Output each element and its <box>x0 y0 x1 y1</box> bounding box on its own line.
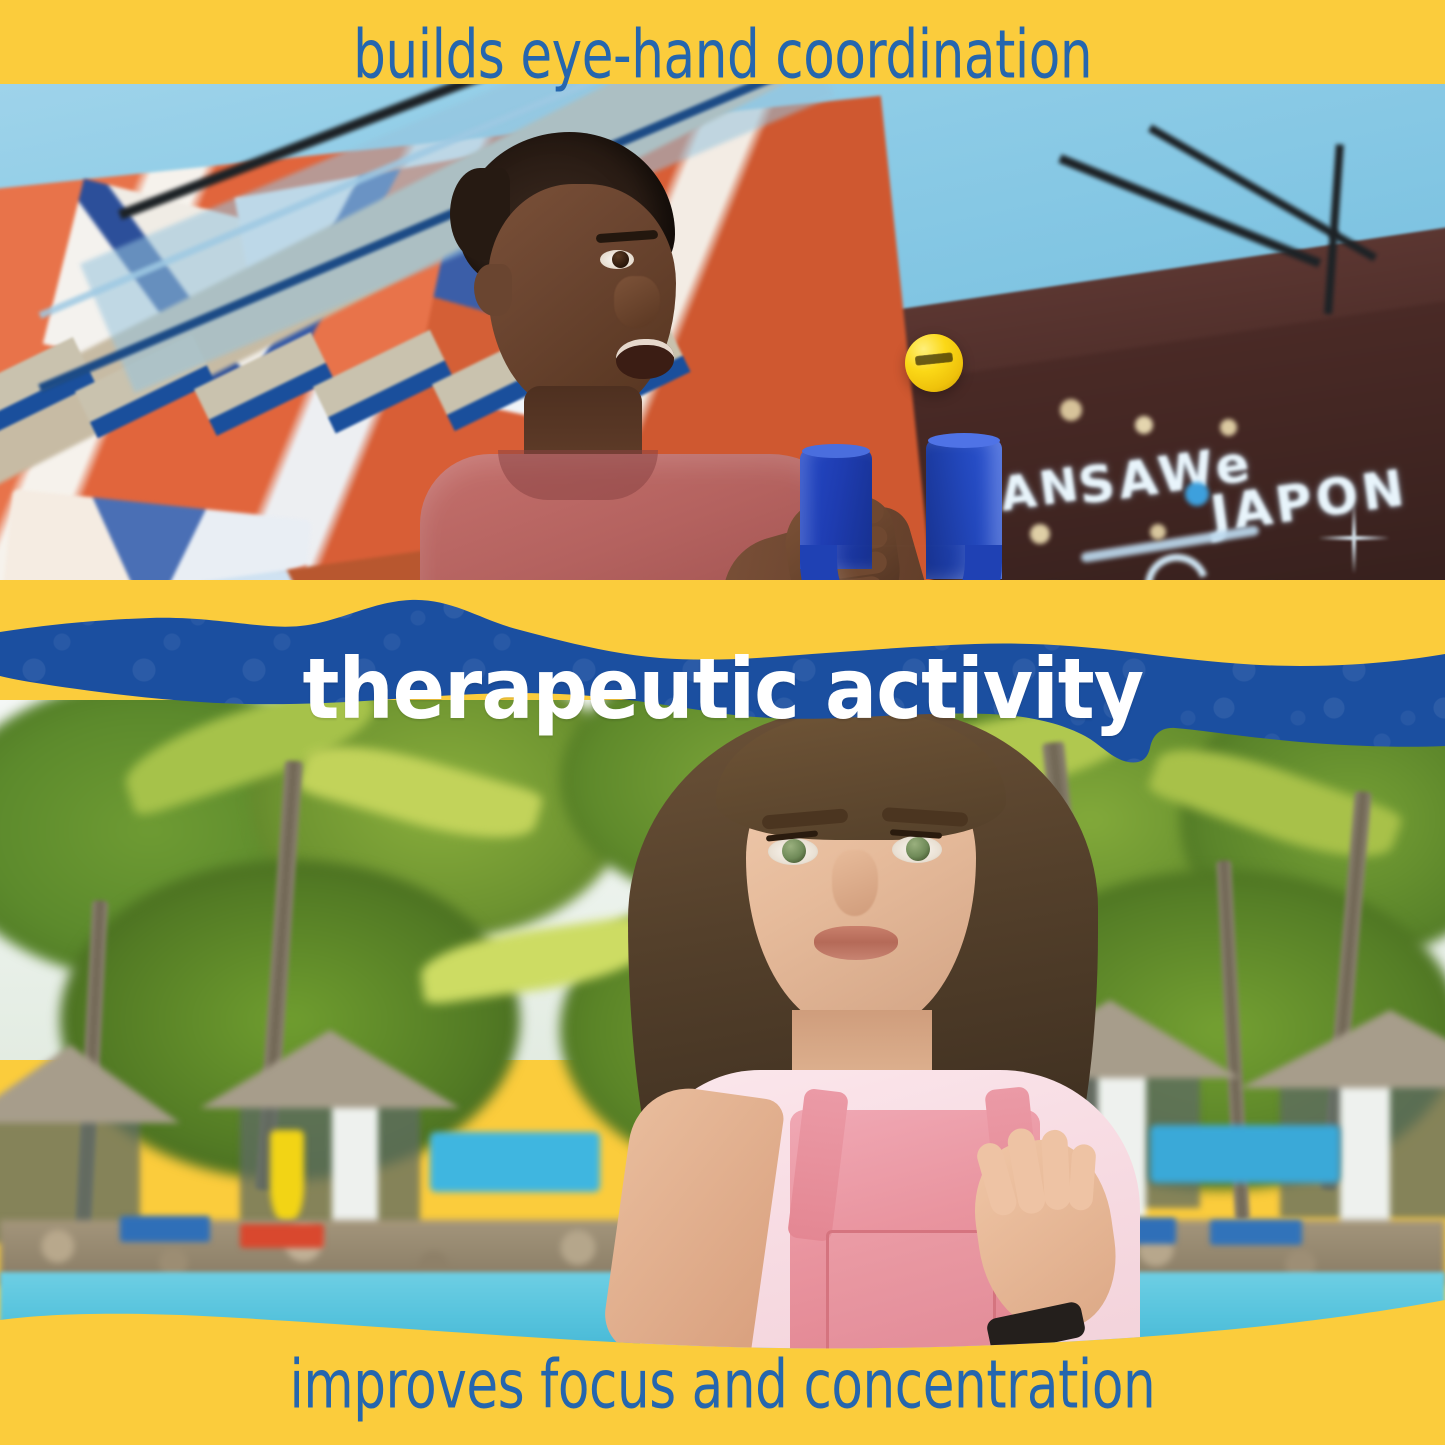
boy-ear <box>474 264 512 316</box>
yellow-umbrella <box>270 1130 304 1222</box>
pool-lounger <box>120 1216 210 1242</box>
pool-lounger <box>1210 1220 1302 1245</box>
girl-nose <box>832 850 878 916</box>
girl-iris <box>906 837 930 861</box>
ball-brand-logo <box>915 352 954 366</box>
top-benefit-banner: builds eye-hand coordination <box>0 0 1445 110</box>
hut-body <box>240 1108 420 1228</box>
graffiti-dot <box>1135 416 1153 434</box>
ball-yellow <box>905 334 963 392</box>
graffiti-dot <box>1150 524 1166 540</box>
photo-girl-resort: pindaloo <box>0 700 1445 1350</box>
bottom-benefit-banner: improves focus and concentration <box>0 1325 1445 1445</box>
graffiti-star <box>1318 502 1390 574</box>
finger <box>1068 1144 1097 1212</box>
hut-roof <box>0 1045 180 1123</box>
girl-iris <box>782 839 806 863</box>
pool-lounger <box>240 1224 324 1248</box>
graffiti-dot <box>1030 524 1050 544</box>
finger <box>1041 1129 1071 1210</box>
scene-skatepark: T AN SAWe JAPON <box>0 84 1445 664</box>
boy-subject <box>400 124 900 664</box>
girl-subject <box>600 700 1160 1350</box>
top-benefit-text: builds eye-hand coordination <box>353 21 1092 88</box>
graffiti-dot <box>1220 419 1237 436</box>
blue-canopy <box>1150 1125 1340 1183</box>
hut-roof <box>1240 1010 1445 1088</box>
girl-lips <box>814 926 898 960</box>
hut-roof <box>200 1030 460 1108</box>
middle-benefit-label: therapeutic activity <box>0 596 1445 781</box>
graffiti-dot <box>1185 482 1209 506</box>
hut-post <box>1340 1088 1390 1230</box>
product-feature-graphic: builds eye-hand coordination T AN SAWe J… <box>0 0 1445 1445</box>
boy-pupil <box>612 251 629 268</box>
scene-tropical-resort: pindaloo <box>0 700 1445 1350</box>
blue-canopy <box>430 1132 600 1192</box>
photo-boy-skatepark: T AN SAWe JAPON <box>0 84 1445 664</box>
hut-post <box>332 1108 378 1238</box>
boy-mouth <box>616 339 674 379</box>
bottom-benefit-text: improves focus and concentration <box>290 1351 1156 1418</box>
middle-benefit-text: therapeutic activity <box>302 640 1143 738</box>
